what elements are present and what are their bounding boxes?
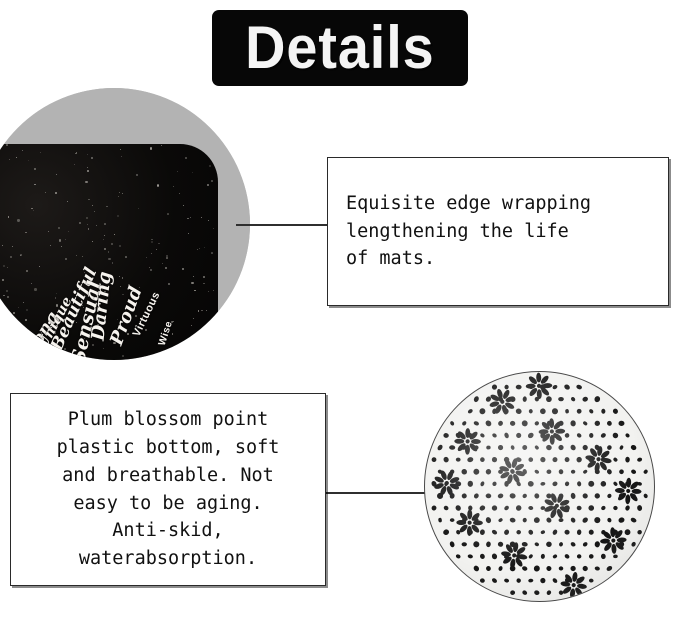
callout-box-plastic-bottom: Plum blossom point plastic bottom, soft …: [10, 393, 326, 586]
callout-text-edge-wrapping: Equisite edge wrapping lengthening the l…: [346, 190, 591, 273]
details-banner: Details: [212, 10, 468, 86]
callout-text-plastic-bottom: Plum blossom point plastic bottom, soft …: [57, 406, 280, 573]
connector-line-bottom: [325, 492, 426, 494]
mat-bottom-photo: [424, 371, 655, 602]
connector-line-top: [236, 224, 328, 226]
mat-printed-surface: Magic strong Unique Beautiful Sensual Da…: [0, 144, 218, 360]
details-banner-label: Details: [245, 18, 435, 78]
mat-face-photo: Magic strong Unique Beautiful Sensual Da…: [0, 88, 250, 360]
callout-box-edge-wrapping: Equisite edge wrapping lengthening the l…: [327, 157, 669, 306]
plum-blossom-pattern: [425, 372, 654, 601]
